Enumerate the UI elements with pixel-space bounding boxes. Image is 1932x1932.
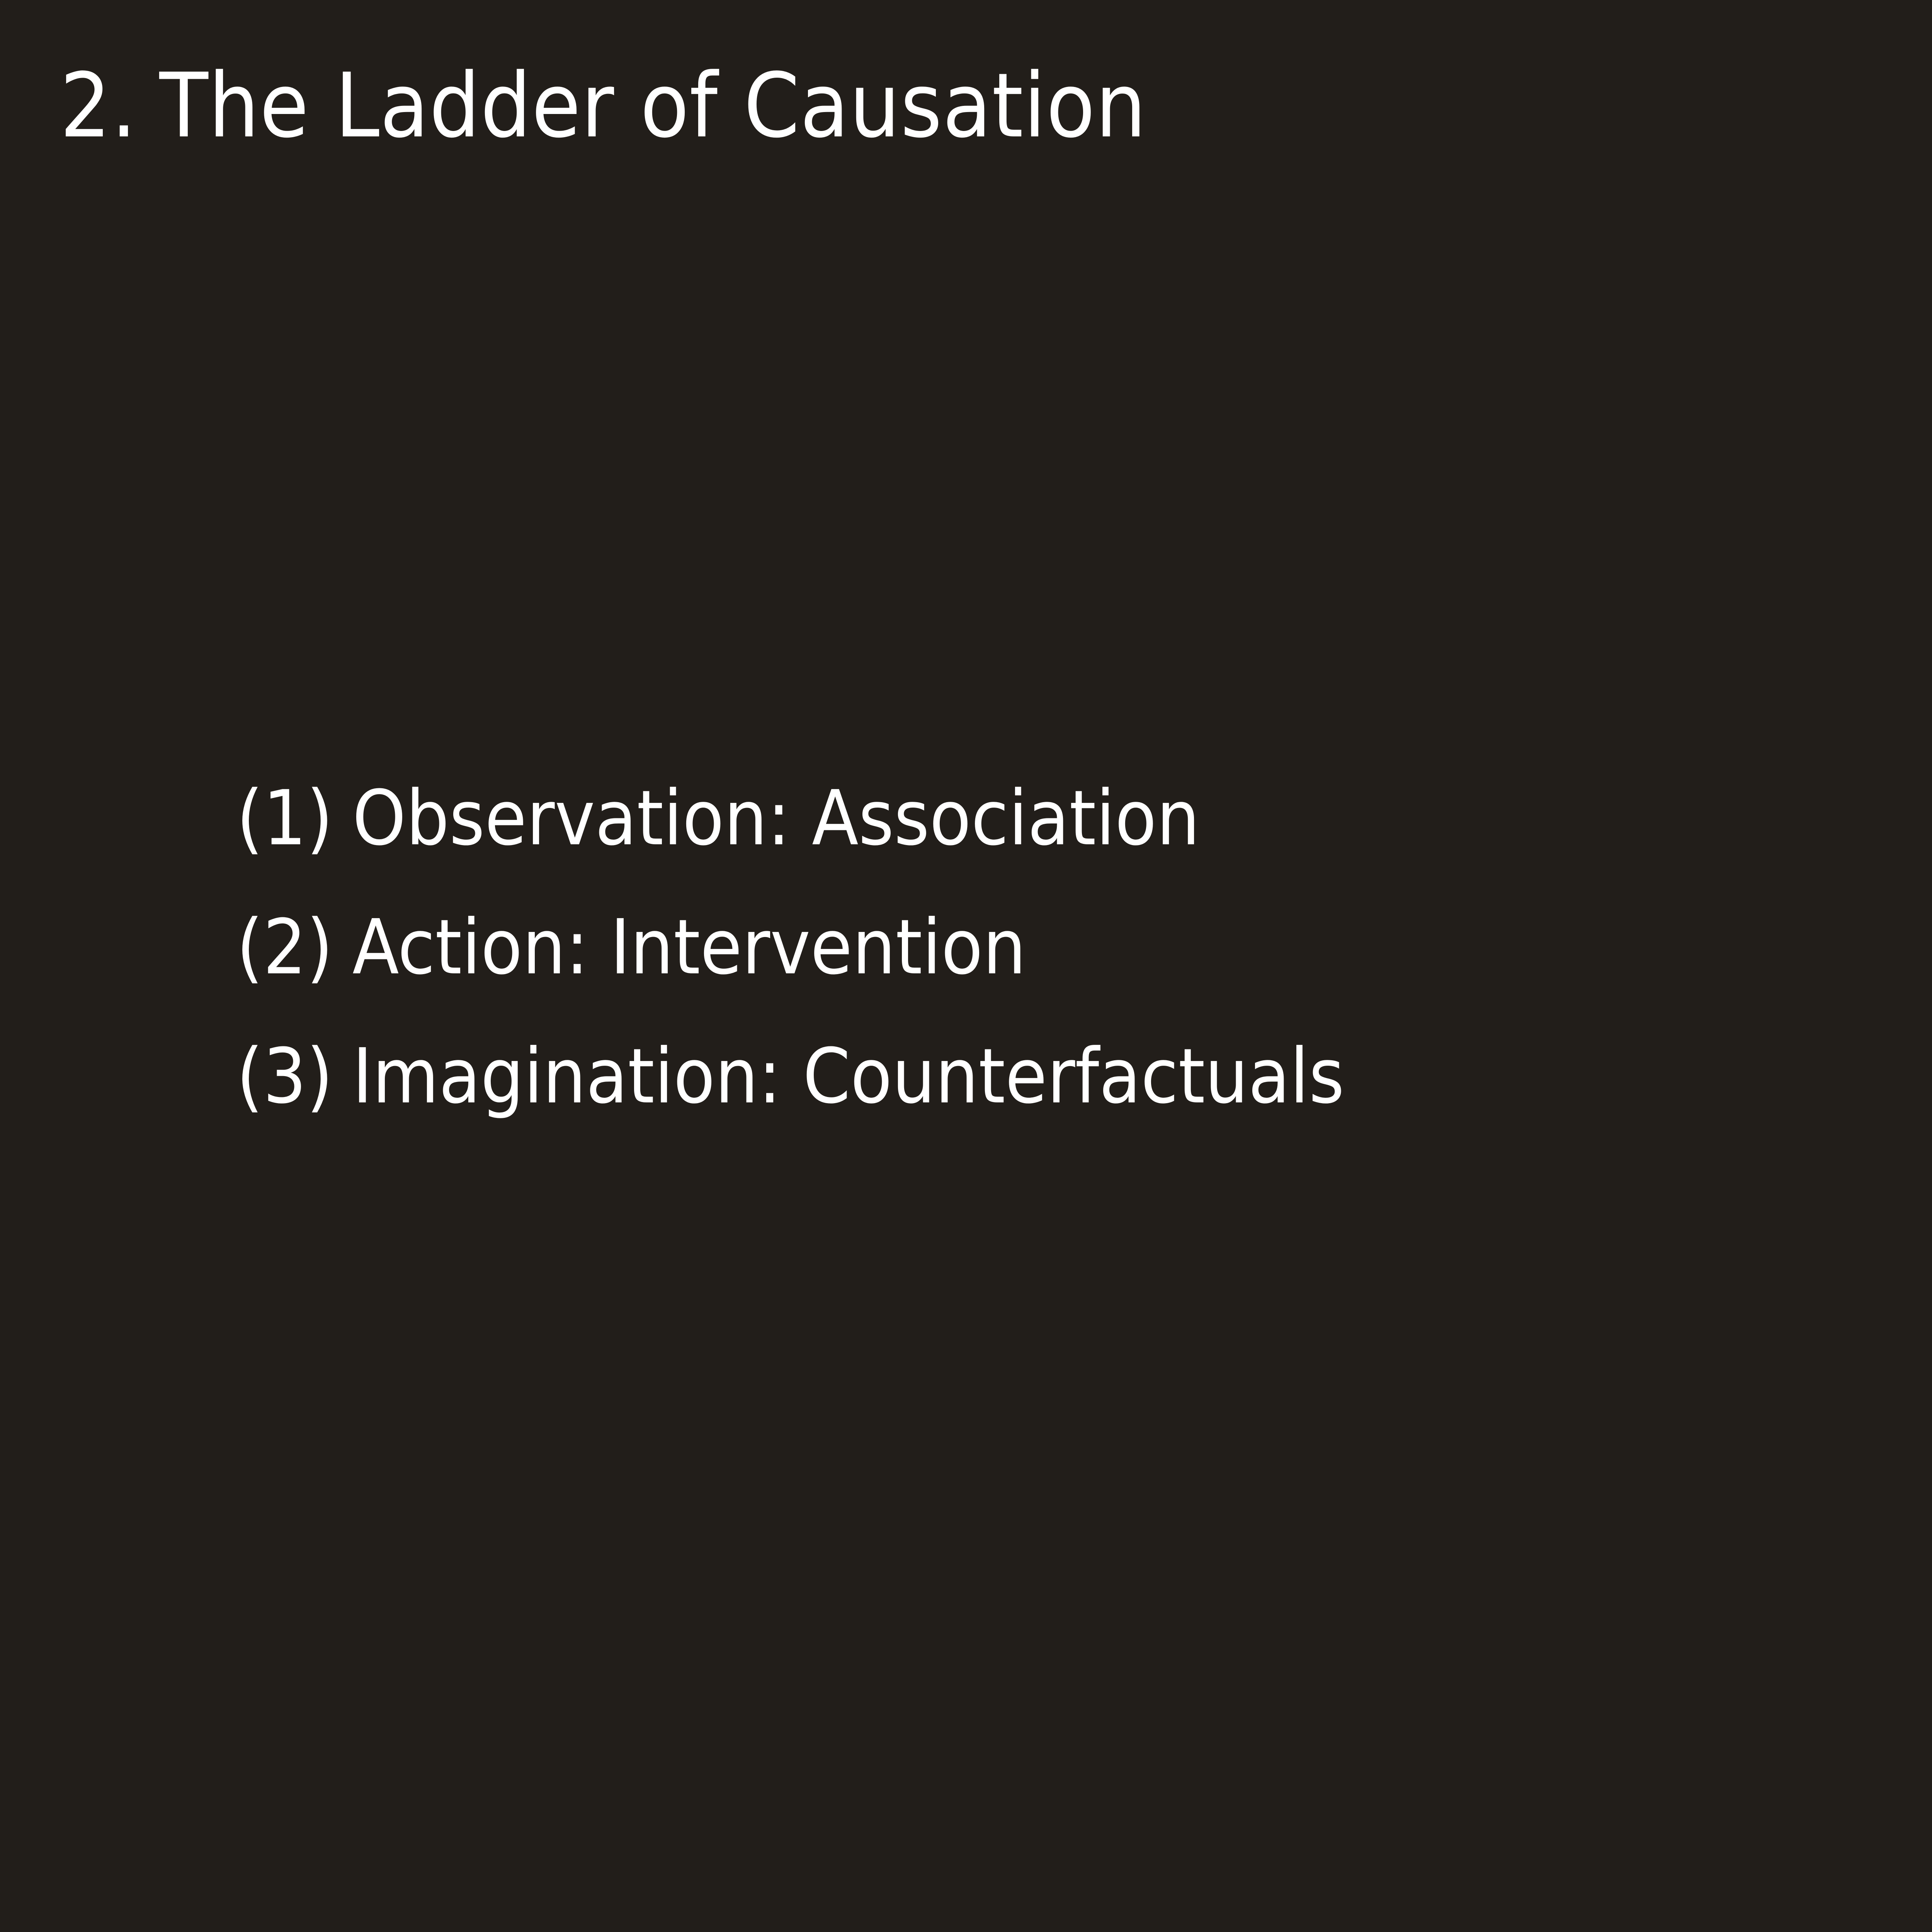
list-item-text: Imagination: Counterfactuals [352, 1039, 1344, 1114]
list-item-label: (1) [236, 781, 352, 856]
list-item: (1) Observation: Association [236, 781, 1932, 856]
enumerate-list: (1) Observation: Association (2) Action:… [236, 781, 1932, 1168]
title-number: 2. [60, 54, 137, 158]
title-text: The Ladder of Causation [159, 54, 1146, 158]
list-item-label: (2) [236, 910, 352, 985]
list-item: (2) Action: Intervention [236, 910, 1932, 985]
beamer-slide: 2.The Ladder of Causation (1) Observatio… [0, 0, 1932, 1932]
list-item-text: Observation: Association [352, 781, 1200, 856]
page-title: 2.The Ladder of Causation [60, 62, 1146, 151]
list-item-label: (3) [236, 1039, 352, 1114]
list-item: (3) Imagination: Counterfactuals [236, 1039, 1932, 1114]
list-item-text: Action: Intervention [352, 910, 1026, 985]
